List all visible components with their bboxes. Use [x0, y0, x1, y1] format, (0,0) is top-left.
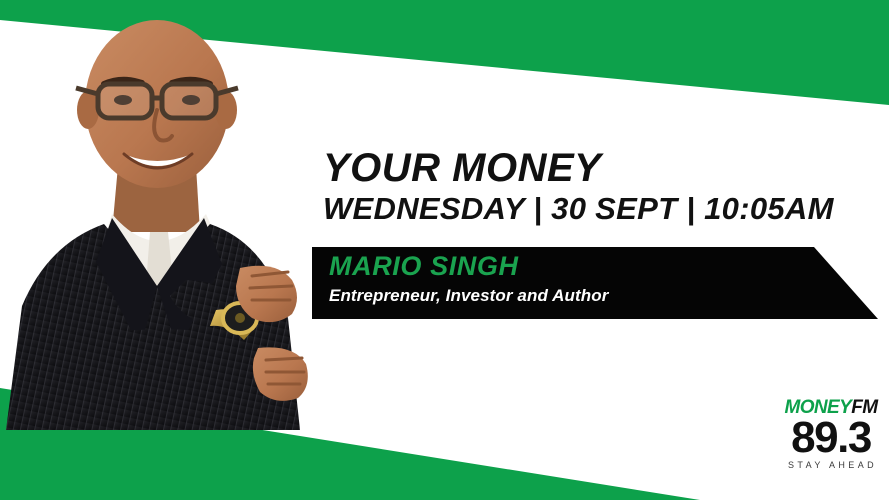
logo-tagline: STAY AHEAD — [779, 461, 883, 470]
presenter-photo — [0, 18, 330, 430]
guest-block: MARIO SINGH Entrepreneur, Investor and A… — [329, 252, 809, 306]
show-schedule: WEDNESDAY | 30 SEPT | 10:05AM — [323, 192, 863, 227]
guest-role: Entrepreneur, Investor and Author — [329, 286, 809, 306]
promo-graphic: YOUR MONEY WEDNESDAY | 30 SEPT | 10:05AM… — [0, 0, 889, 500]
show-title: YOUR MONEY — [323, 148, 863, 190]
logo-frequency: 89.3 — [779, 418, 883, 458]
station-logo: MONEYFM 89.3 STAY AHEAD — [779, 398, 883, 470]
presenter-hand-grip — [253, 347, 308, 401]
headline-block: YOUR MONEY WEDNESDAY | 30 SEPT | 10:05AM — [323, 148, 863, 226]
guest-name: MARIO SINGH — [329, 252, 809, 282]
